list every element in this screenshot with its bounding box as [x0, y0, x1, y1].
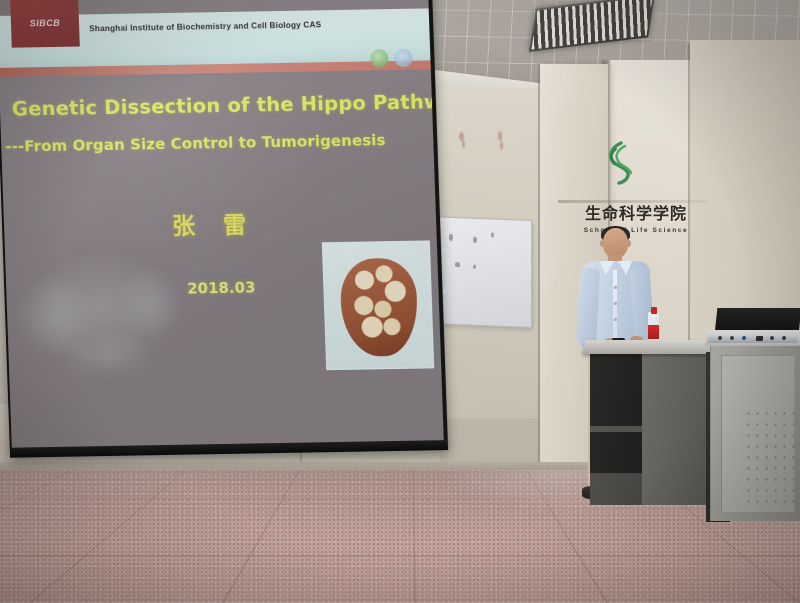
- speaker-ear: [627, 240, 631, 247]
- whiteboard-mark: [449, 234, 453, 241]
- wall-mark: [500, 141, 503, 150]
- control-knob-icon[interactable]: [770, 336, 774, 340]
- shirt-button: [614, 302, 617, 305]
- lectern: [584, 340, 714, 508]
- control-knob-icon[interactable]: [782, 336, 786, 340]
- bottle-label: [648, 325, 659, 339]
- sibcb-logo-text: SIBCB: [30, 18, 61, 29]
- slide-tumor-photo: [322, 240, 434, 370]
- speaker-ear: [600, 240, 604, 247]
- tumor-photo-caption: [338, 330, 419, 353]
- shirt-button: [614, 318, 617, 321]
- slide-subtitle: ---From Organ Size Control to Tumorigene…: [5, 130, 426, 155]
- wall-seam: [538, 64, 540, 484]
- projection-screen: SIBCB Shanghai Institute of Biochemistry…: [0, 0, 450, 466]
- control-knob-icon[interactable]: [742, 336, 746, 340]
- whiteboard-mark: [473, 237, 477, 243]
- wall-mark: [462, 140, 465, 148]
- bottle-cap: [651, 307, 657, 314]
- sign-divider: [558, 200, 708, 203]
- slide-title: Genetic Dissection of the Hippo Pathway: [12, 93, 425, 121]
- speaker-shirt-placket: [613, 270, 617, 348]
- cabinet-control-panel[interactable]: [708, 334, 799, 343]
- slide-date: 2018.03: [156, 278, 287, 298]
- projected-slide: SIBCB Shanghai Institute of Biochemistry…: [0, 0, 444, 450]
- whiteboard-mark: [473, 265, 476, 269]
- shirt-button: [614, 286, 617, 289]
- speaker-left-arm: [576, 268, 600, 347]
- control-knob-icon[interactable]: [718, 336, 722, 340]
- lectern-desktop: [583, 340, 715, 354]
- sibcb-logo-icon: SIBCB: [10, 0, 80, 48]
- speaker-head: [603, 228, 628, 258]
- lectern-shelf: [590, 426, 642, 432]
- whiteboard-mark: [491, 232, 494, 237]
- lectern-recess: [590, 353, 642, 473]
- whiteboard-mark: [455, 262, 460, 267]
- control-knob-icon[interactable]: [730, 336, 734, 340]
- control-switch-icon[interactable]: [756, 336, 763, 341]
- lectern-front-panel: [642, 353, 708, 505]
- cabinet-body: [710, 345, 800, 521]
- screen-frame: SIBCB Shanghai Institute of Biochemistry…: [0, 0, 448, 458]
- school-sign-chinese: 生命科学学院: [573, 206, 699, 222]
- slide-background-organ-image: [0, 222, 221, 426]
- lecture-hall-photo: 生命科学学院 School of Life Science SIBCB Shan…: [0, 0, 800, 603]
- wall-mark: [498, 131, 502, 141]
- water-bottle: [648, 303, 659, 345]
- cabinet-vent-holes: [744, 408, 796, 508]
- cabinet-door[interactable]: [721, 355, 795, 513]
- slide-speaker-name: 张 雷: [123, 205, 304, 242]
- school-logo-icon: [602, 140, 640, 186]
- av-equipment-cabinet: [706, 330, 800, 522]
